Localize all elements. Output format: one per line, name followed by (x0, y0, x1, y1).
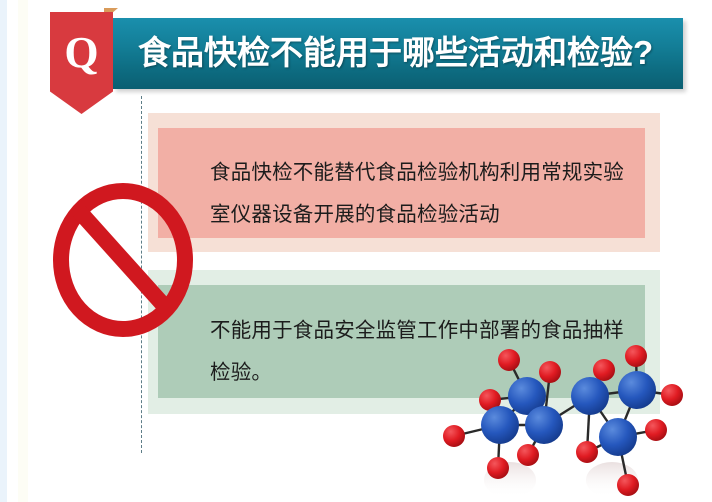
no-entry-sign-icon (52, 182, 194, 338)
question-badge-letter: Q (50, 12, 113, 94)
statement-block-1-text: 食品快检不能替代食品检验机构利用常规实验室仪器设备开展的食品检验活动 (210, 152, 640, 236)
slide-canvas: Q 食品快检不能用于哪些活动和检验? 食品快检不能替代食品检验机构利用常规实验室… (0, 0, 712, 502)
molecule-atom-large (481, 371, 656, 456)
molecule-atom-small (443, 345, 683, 496)
page-title: 食品快检不能用于哪些活动和检验? (138, 22, 678, 84)
molecule-model-icon (432, 340, 712, 502)
header: Q 食品快检不能用于哪些活动和检验? (0, 0, 712, 120)
